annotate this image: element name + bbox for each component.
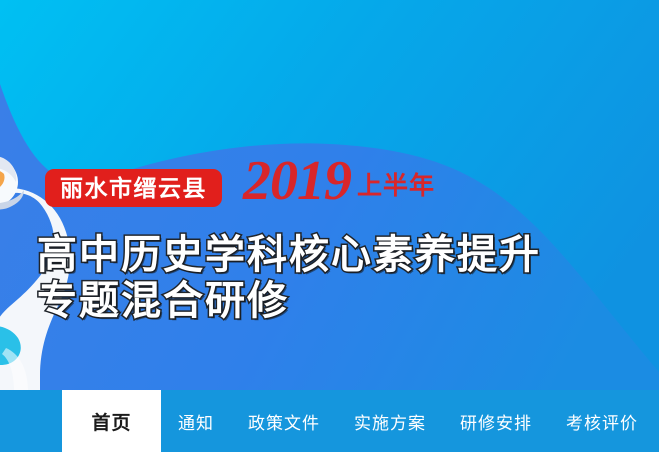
banner-title-line-1: 高中历史学科核心素养提升 [37, 232, 637, 278]
nav-item-training-schedule-label: 研修安排 [460, 409, 532, 434]
nav-item-home-label: 首页 [91, 408, 131, 435]
nav-item-implementation-plan[interactable]: 实施方案 [337, 390, 443, 452]
nav-left-spacer [0, 390, 62, 452]
nav-item-assessment-evaluation-label: 考核评价 [566, 409, 638, 434]
county-badge-label: 丽水市缙云县 [60, 177, 207, 200]
nav-item-policy-documents[interactable]: 政策文件 [231, 390, 337, 452]
main-navigation: 首页 通知 政策文件 实施方案 研修安排 考核评价 [0, 390, 659, 452]
nav-item-implementation-plan-label: 实施方案 [354, 409, 426, 434]
nav-item-home[interactable]: 首页 [62, 390, 161, 452]
nav-item-notice-label: 通知 [178, 409, 214, 434]
year-block: 2019 上半年 [243, 155, 435, 208]
nav-item-notice[interactable]: 通知 [161, 390, 231, 452]
course-banner: 丽水市缙云县 2019 上半年 高中历史学科核心素养提升 专题混合研修 首页 通… [0, 0, 659, 452]
banner-title-line-2: 专题混合研修 [37, 278, 637, 324]
nav-item-assessment-evaluation[interactable]: 考核评价 [549, 390, 655, 452]
year-number: 2019 [243, 155, 351, 208]
county-badge: 丽水市缙云县 [45, 169, 222, 207]
year-period-label: 上半年 [357, 174, 435, 199]
banner-title: 高中历史学科核心素养提升 专题混合研修 [37, 232, 637, 324]
nav-item-training-schedule[interactable]: 研修安排 [443, 390, 549, 452]
nav-item-policy-documents-label: 政策文件 [248, 409, 320, 434]
